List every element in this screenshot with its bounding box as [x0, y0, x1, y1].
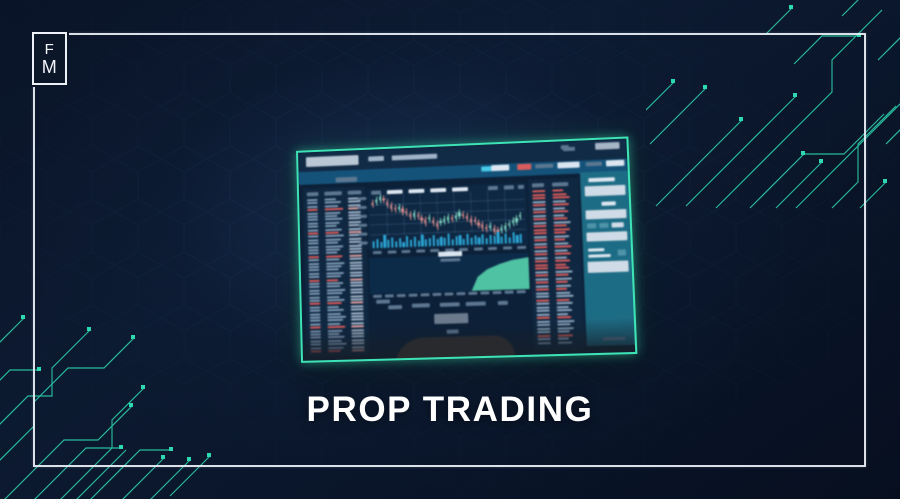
positions-tab	[412, 303, 430, 308]
chart-symbol-label	[371, 191, 381, 195]
orderbook-cell	[308, 239, 319, 241]
orderbook-cell	[556, 288, 567, 290]
orderbook-cell	[309, 300, 320, 302]
orderbook-cell	[351, 315, 364, 317]
order-pct-button	[599, 223, 608, 228]
depth-axis-label	[397, 294, 406, 297]
volume-bar	[478, 237, 480, 244]
orderbook-cell	[555, 274, 568, 276]
ticker-value	[606, 160, 625, 167]
panel-tab-label	[336, 177, 358, 183]
candle-body	[405, 211, 407, 213]
volume-bar	[414, 237, 416, 247]
account-button	[595, 142, 620, 150]
candle-body	[421, 217, 423, 220]
candle-body	[390, 205, 392, 209]
orderbook-cell	[307, 216, 318, 218]
orderbook-cell	[552, 189, 563, 191]
orderbook-cell	[557, 313, 568, 315]
orderbook-cell	[349, 254, 362, 256]
orderbook-cell	[350, 295, 363, 297]
time-axis-label	[387, 250, 396, 253]
volume-bar	[516, 235, 518, 243]
depth-axis-label	[468, 292, 477, 295]
volume-bar	[486, 238, 488, 244]
orderbook-cell	[535, 274, 548, 276]
depth-axis-label	[444, 292, 453, 295]
price-axis-label	[359, 233, 368, 236]
candle-body	[500, 228, 502, 231]
orderbook-cell	[536, 306, 549, 308]
volume-bar	[493, 236, 495, 244]
candle-body	[394, 208, 396, 210]
candle-body	[470, 219, 472, 223]
volume-bar	[474, 236, 476, 245]
fm-logo-letter-m: M	[42, 58, 58, 76]
ticker-label	[586, 162, 602, 167]
order-price-input	[585, 185, 626, 197]
poster-canvas: F M	[0, 0, 900, 499]
orderbook-col-header	[307, 192, 319, 196]
page-title: PROP TRADING	[0, 390, 900, 430]
candle-body	[447, 216, 449, 220]
volume-bar	[520, 233, 523, 243]
volume-bar	[447, 233, 450, 245]
volume-bar	[410, 239, 412, 247]
volume-bar	[391, 237, 393, 247]
ticker-value	[557, 162, 579, 169]
price-axis-label	[358, 215, 367, 218]
positions-tab	[376, 299, 390, 303]
candle-body	[489, 225, 491, 228]
orderbook-col-header	[324, 191, 342, 196]
orderbook-cell	[537, 317, 550, 319]
volume-bar	[482, 234, 485, 244]
orderbook-cell	[555, 256, 567, 258]
chart-tool-button	[504, 185, 514, 189]
chart-tool-button	[488, 186, 498, 190]
volume-bar	[387, 240, 389, 248]
order-summary-line	[588, 248, 604, 252]
volume-bar	[463, 239, 465, 245]
orderbook-cell	[554, 231, 566, 233]
order-amount-input	[585, 209, 626, 220]
ticker-value	[491, 164, 509, 171]
orderbook-cell	[535, 267, 548, 269]
chart-ohlc-value	[452, 187, 468, 192]
time-axis-label	[473, 247, 482, 250]
orderbook-col-header	[552, 182, 568, 187]
orderbook-cell	[536, 303, 549, 305]
orderbook-cell	[308, 256, 319, 258]
depth-axis-label	[373, 295, 382, 298]
orderbook-cell	[557, 316, 571, 318]
candle-body	[432, 220, 434, 223]
orderbook-cell	[308, 263, 319, 265]
orderbook-cell	[536, 310, 549, 312]
price-axis-label	[358, 224, 367, 227]
orderbook-cell	[535, 271, 548, 273]
candle-body	[398, 206, 400, 209]
volume-bar	[512, 232, 515, 243]
volume-bar	[376, 239, 378, 248]
depth-midprice-label	[438, 251, 462, 257]
account-label	[561, 145, 569, 149]
orderbook-cell	[309, 279, 320, 281]
orderbook-cell	[308, 246, 319, 248]
volume-bar	[436, 239, 438, 246]
candle-body	[458, 213, 460, 217]
order-pct-button	[611, 222, 623, 227]
orderbook-cell	[554, 238, 565, 240]
ticker-value	[517, 164, 531, 171]
candle-body	[512, 220, 514, 223]
time-axis-label	[401, 250, 410, 253]
orderbook-cell	[308, 249, 319, 251]
orderbook-cell	[327, 296, 340, 298]
depth-axis-label	[432, 293, 441, 296]
ticker-label	[535, 164, 553, 169]
price-axis-label	[358, 206, 367, 209]
orderbook-cell	[349, 261, 362, 263]
orderbook-cell	[351, 312, 364, 314]
orderbook-cell	[310, 323, 321, 325]
orderbook-cell	[351, 322, 364, 324]
candle-body	[436, 223, 438, 227]
depth-axis-label	[421, 293, 430, 296]
orderbook-cell	[309, 296, 320, 298]
volume-bar	[505, 234, 508, 244]
candle-body	[485, 227, 487, 229]
volume-bar	[418, 240, 420, 246]
volume-bar	[497, 232, 500, 244]
volume-bar	[406, 236, 408, 247]
candle-body	[493, 227, 495, 231]
orderbook-cell	[309, 266, 320, 268]
order-form-label	[601, 201, 615, 206]
volume-bar	[432, 236, 434, 247]
candle-body	[386, 202, 388, 205]
order-submit-button	[588, 260, 629, 272]
candle-body	[428, 218, 430, 220]
terminal-content	[298, 139, 635, 361]
orderbook-cell	[535, 278, 548, 280]
candle-body	[409, 214, 411, 217]
depth-axis-label	[385, 294, 394, 297]
orderbook-cell	[327, 306, 339, 308]
orderbook-cell	[310, 313, 321, 315]
volume-bar	[444, 238, 446, 246]
chart-ohlc-value	[408, 189, 424, 194]
hero-trading-screenshot	[296, 143, 631, 358]
time-axis-label	[373, 251, 382, 254]
orderbook-cell	[535, 264, 548, 266]
volume-bar	[395, 241, 397, 247]
orderbook-cell	[308, 232, 319, 234]
orderbook-cell	[308, 229, 319, 231]
orderbook-cell	[327, 312, 341, 314]
orderbook-cell	[310, 316, 321, 318]
trading-terminal-screen	[296, 136, 637, 362]
candle-body	[481, 225, 483, 229]
volume-bar	[459, 235, 462, 245]
orderbook-cell	[536, 299, 549, 301]
fm-logo: F M	[32, 32, 67, 85]
candle-body	[462, 214, 464, 216]
candle-body	[424, 220, 426, 224]
orderbook-col-header	[532, 183, 544, 187]
positions-tab	[440, 302, 460, 307]
candle-body	[440, 221, 442, 223]
orderbook-cell	[309, 273, 320, 275]
volume-bar	[399, 239, 401, 248]
orderbook-cell	[310, 306, 321, 308]
orderbook-cell	[350, 271, 363, 273]
volume-bar	[384, 235, 387, 248]
order-fee-chip	[618, 249, 626, 255]
orderbook-cell	[536, 292, 549, 294]
orderbook-cell	[536, 295, 549, 297]
depth-axis-label	[409, 294, 418, 297]
chart-ohlc-value	[430, 188, 446, 193]
candle-body	[371, 203, 373, 205]
orderbook-cell	[328, 323, 341, 325]
candle-body	[519, 215, 521, 217]
volume-bar	[501, 236, 503, 243]
volume-bar	[455, 236, 457, 245]
candle-body	[375, 200, 377, 203]
orderbook-cell	[537, 313, 550, 315]
candle-body	[515, 218, 517, 222]
volume-bar	[421, 235, 424, 247]
depth-axis-label	[517, 290, 526, 293]
order-total-input	[586, 231, 627, 242]
candle-body	[454, 215, 456, 218]
orderbook-cell	[307, 199, 318, 201]
orderbook-cell	[535, 281, 548, 283]
time-axis-label	[416, 249, 425, 252]
orderbook-cell	[536, 288, 549, 290]
fm-logo-letter-f: F	[45, 42, 55, 57]
orderbook-cell	[326, 279, 338, 281]
candle-body	[379, 196, 381, 200]
candle-body	[413, 213, 415, 217]
candle-body	[504, 225, 506, 229]
volume-bar	[373, 241, 375, 248]
time-axis-label	[488, 247, 497, 250]
depth-axis-label	[456, 292, 465, 295]
orderbook-cell	[555, 263, 566, 265]
terminal-menu-item	[368, 156, 384, 162]
orderbook-col-header	[348, 190, 362, 194]
volume-bar	[403, 242, 405, 247]
candle-body	[466, 216, 468, 219]
orderbook-cell	[556, 281, 568, 283]
positions-tab	[388, 305, 402, 309]
candle-body	[443, 219, 445, 222]
orderbook-cell	[556, 298, 569, 300]
volume-bar	[451, 240, 453, 246]
volume-bar	[425, 239, 427, 246]
orderbook-cell	[350, 288, 363, 290]
orderbook-cell	[350, 298, 363, 300]
candle-body	[402, 208, 404, 212]
depth-axis-label	[480, 291, 489, 294]
orderbook-cell	[350, 264, 363, 266]
candle-body	[417, 215, 419, 217]
orderbook-cell	[307, 222, 318, 224]
volume-bar	[466, 234, 469, 245]
volume-bar	[470, 237, 472, 245]
candle-body	[508, 223, 510, 225]
orderbook-cell	[350, 278, 363, 280]
price-axis-label	[358, 197, 367, 200]
volume-bar	[380, 242, 382, 248]
orderbook-cell	[309, 283, 320, 285]
candle-body	[474, 220, 476, 222]
orderbook-cell	[350, 281, 363, 283]
orderbook-cell	[309, 289, 320, 291]
time-axis-label	[517, 246, 526, 249]
orderbook-cell	[307, 206, 318, 208]
positions-tab	[466, 301, 486, 306]
candle-body	[477, 222, 479, 225]
orderbook-cell	[557, 305, 569, 307]
time-axis-label	[502, 246, 511, 249]
positions-tab	[498, 301, 508, 305]
depth-axis-label	[492, 291, 501, 294]
volume-bar	[440, 236, 442, 245]
volume-bar	[508, 237, 510, 243]
depth-axis-label	[504, 290, 513, 293]
orderbook-cell	[307, 212, 318, 214]
volume-bar	[489, 235, 492, 244]
volume-bar	[429, 238, 431, 246]
chart-ohlc-value	[387, 190, 403, 195]
orderbook-cell	[553, 214, 564, 216]
orderbook-cell	[351, 305, 364, 307]
candle-body	[451, 218, 453, 220]
price-axis-label	[359, 241, 368, 244]
orderbook-cell	[536, 285, 549, 287]
order-pct-button	[587, 223, 596, 228]
candle-body	[383, 198, 385, 200]
chart-tool-button	[518, 185, 524, 189]
